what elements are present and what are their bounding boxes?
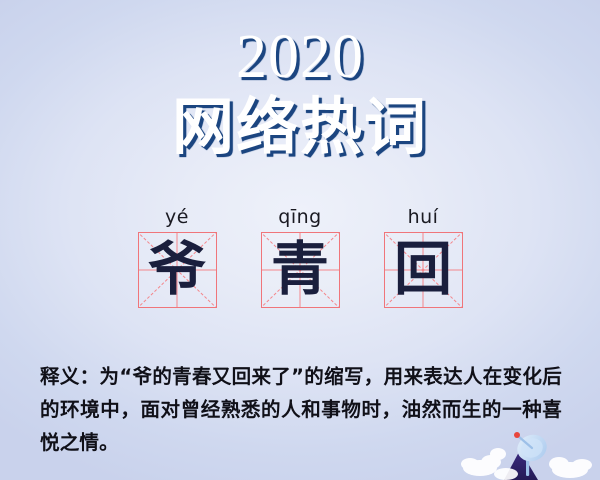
character-cell-3: huí 回 xyxy=(384,208,463,308)
character-cell-2: qīng 青 xyxy=(261,208,340,308)
hanzi-character-2: 青 xyxy=(262,233,339,307)
hanzi-character-3: 回 xyxy=(385,233,462,307)
character-cell-1: yé 爷 xyxy=(138,208,217,308)
mizige-grid-1: 爷 xyxy=(138,232,217,308)
page-title-year: 2020 xyxy=(0,26,600,88)
pinyin-label-3: huí xyxy=(408,208,439,232)
title-block: 2020 网络热词 xyxy=(0,26,600,159)
pinyin-label-2: qīng xyxy=(278,208,321,232)
pinyin-label-1: yé xyxy=(165,208,189,232)
definition-text: 释义：为“爷的青春又回来了”的缩写，用来表达人在变化后的环境中，面对曾经熟悉的人… xyxy=(40,360,562,459)
page-title-heading: 网络热词 xyxy=(0,94,600,159)
character-row: yé 爷 qīng 青 huí xyxy=(0,208,600,308)
poster-canvas: 2020 网络热词 yé 爷 qīng 青 hu xyxy=(0,0,600,480)
mizige-grid-3: 回 xyxy=(384,232,463,308)
mizige-grid-2: 青 xyxy=(261,232,340,308)
hanzi-character-1: 爷 xyxy=(139,233,216,307)
